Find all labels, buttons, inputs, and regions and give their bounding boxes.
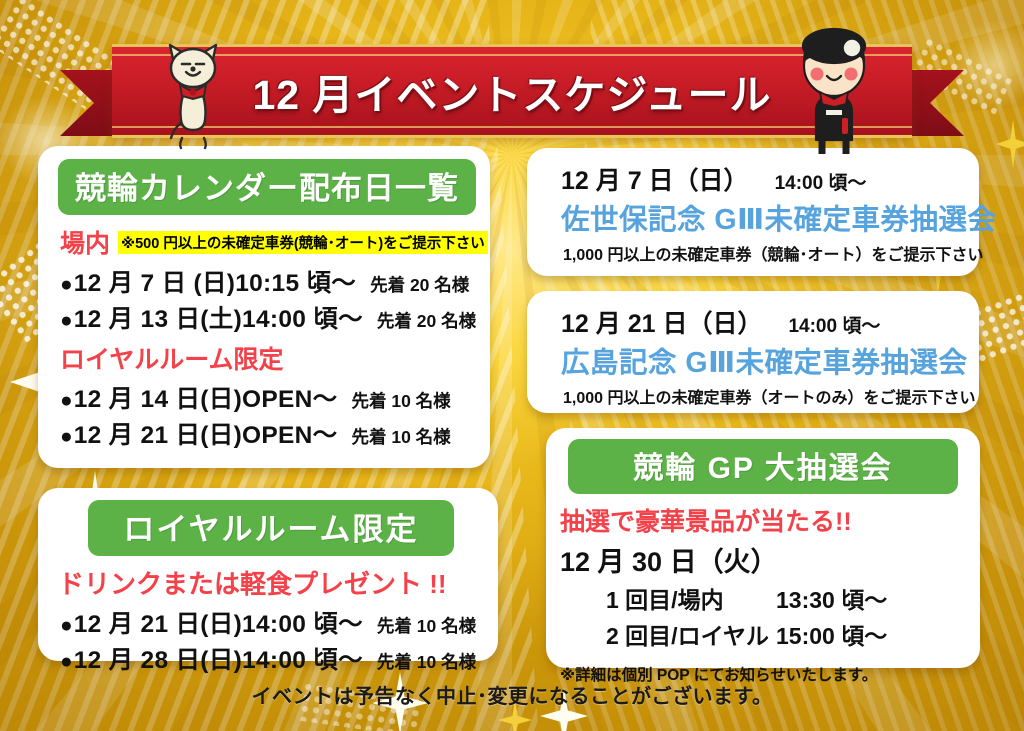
royal-room-card: ロイヤルルーム限定 ドリンクまたは軽食プレゼント !! ● 12 月 21 日(… bbox=[38, 488, 498, 661]
event-date: 12 月 13 日(土)14:00 頃～ bbox=[74, 300, 363, 335]
gp-catchphrase: 抽選で豪華景品が当たる!! bbox=[560, 502, 980, 538]
bullet-icon: ● bbox=[60, 651, 73, 672]
royal-room-limited-label: ロイヤルルーム限定 bbox=[60, 340, 490, 376]
sasebo-note: 1,000 円以上の未確定車券（競輪･オート）をご提示下さい bbox=[563, 241, 979, 265]
venue-event-list: ● 12 月 7 日 (日)10:15 頃～ 先着 20 名様 ● 12 月 1… bbox=[38, 264, 490, 335]
sasebo-title: 佐世保記念 GⅢ未確定車券抽選会 bbox=[561, 197, 979, 238]
bullet-icon: ● bbox=[60, 274, 73, 295]
hiroshima-datetime-row: 12 月 21 日（日） 14:00 頃～ bbox=[561, 304, 979, 340]
calendar-distribution-card: 競輪カレンダー配布日一覧 場内 ※500 円以上の未確定車券(競輪･オート)をご… bbox=[38, 146, 490, 468]
event-date: 12 月 7 日 (日)10:15 頃～ bbox=[74, 264, 356, 299]
bullet-icon: ● bbox=[60, 615, 73, 636]
gp-card-heading: 競輪 GP 大抽選会 bbox=[568, 439, 958, 494]
event-capacity: 先着 20 名様 bbox=[377, 308, 476, 333]
calendar-card-heading: 競輪カレンダー配布日一覧 bbox=[58, 159, 476, 215]
list-item: ● 12 月 13 日(土)14:00 頃～ 先着 20 名様 bbox=[60, 300, 490, 335]
list-item: ● 12 月 7 日 (日)10:15 頃～ 先着 20 名様 bbox=[60, 264, 490, 299]
venue-label: 場内 bbox=[60, 224, 110, 260]
gp-session-row: 2 回目/ロイヤル 15:00 頃～ bbox=[606, 617, 980, 651]
page-title: 12 月イベントスケジュール bbox=[112, 61, 912, 121]
hiroshima-title: 広島記念 GⅢ未確定車券抽選会 bbox=[561, 340, 979, 381]
gp-session-label: 1 回目/場内 bbox=[606, 581, 776, 615]
gp-session-label: 2 回目/ロイヤル bbox=[606, 617, 776, 651]
gp-session-time: 15:00 頃～ bbox=[776, 617, 887, 651]
ribbon-banner: 12 月イベントスケジュール bbox=[112, 44, 912, 138]
list-item: ● 12 月 14 日(日)OPEN～ 先着 10 名様 bbox=[60, 380, 490, 415]
venue-row: 場内 ※500 円以上の未確定車券(競輪･オート)をご提示下さい bbox=[60, 224, 490, 260]
gp-date: 12 月 30 日（火） bbox=[560, 540, 980, 579]
event-time: 14:00 頃～ bbox=[788, 311, 880, 338]
hiroshima-note: 1,000 円以上の未確定車券（オートのみ）をご提示下さい bbox=[563, 384, 979, 408]
royal-card-subtitle: ドリンクまたは軽食プレゼント !! bbox=[58, 564, 498, 601]
venue-note-highlight: ※500 円以上の未確定車券(競輪･オート)をご提示下さい bbox=[118, 231, 488, 254]
event-date: 12 月 21 日(日)14:00 頃～ bbox=[74, 605, 363, 640]
royal-event-list: ● 12 月 14 日(日)OPEN～ 先着 10 名様 ● 12 月 21 日… bbox=[38, 380, 490, 451]
list-item: ● 12 月 21 日(日)OPEN～ 先着 10 名様 bbox=[60, 416, 490, 451]
footer-disclaimer: イベントは予告なく中止･変更になることがございます。 bbox=[0, 680, 1024, 709]
sasebo-lottery-card: 12 月 7 日（日） 14:00 頃～ 佐世保記念 GⅢ未確定車券抽選会 1,… bbox=[527, 148, 979, 276]
hiroshima-lottery-card: 12 月 21 日（日） 14:00 頃～ 広島記念 GⅢ未確定車券抽選会 1,… bbox=[527, 291, 979, 413]
royal-card-heading: ロイヤルルーム限定 bbox=[88, 500, 454, 556]
event-capacity: 先着 10 名様 bbox=[351, 388, 450, 413]
event-capacity: 先着 10 名様 bbox=[377, 649, 476, 674]
event-time: 14:00 頃～ bbox=[775, 168, 867, 195]
bullet-icon: ● bbox=[60, 390, 73, 411]
list-item: ● 12 月 28 日(日)14:00 頃～ 先着 10 名様 bbox=[60, 641, 498, 676]
event-schedule-poster: 12 月イベントスケジュール bbox=[0, 0, 1024, 731]
royal-card-event-list: ● 12 月 21 日(日)14:00 頃～ 先着 10 名様 ● 12 月 2… bbox=[38, 605, 498, 676]
title-ribbon: 12 月イベントスケジュール bbox=[0, 36, 1024, 154]
bullet-icon: ● bbox=[60, 310, 73, 331]
gp-session-row: 1 回目/場内 13:30 頃～ bbox=[606, 581, 980, 615]
sasebo-datetime-row: 12 月 7 日（日） 14:00 頃～ bbox=[561, 161, 979, 197]
event-date: 12 月 21 日（日） bbox=[561, 304, 762, 340]
keirin-gp-card: 競輪 GP 大抽選会 抽選で豪華景品が当たる!! 12 月 30 日（火） 1 … bbox=[546, 428, 980, 668]
event-date: 12 月 7 日（日） bbox=[561, 161, 749, 197]
event-capacity: 先着 20 名様 bbox=[370, 272, 469, 297]
event-capacity: 先着 10 名様 bbox=[351, 424, 450, 449]
event-date: 12 月 14 日(日)OPEN～ bbox=[74, 380, 338, 415]
bullet-icon: ● bbox=[60, 426, 73, 447]
event-date: 12 月 21 日(日)OPEN～ bbox=[74, 416, 338, 451]
event-date: 12 月 28 日(日)14:00 頃～ bbox=[74, 641, 363, 676]
event-capacity: 先着 10 名様 bbox=[377, 613, 476, 638]
list-item: ● 12 月 21 日(日)14:00 頃～ 先着 10 名様 bbox=[60, 605, 498, 640]
gp-session-time: 13:30 頃～ bbox=[776, 581, 887, 615]
